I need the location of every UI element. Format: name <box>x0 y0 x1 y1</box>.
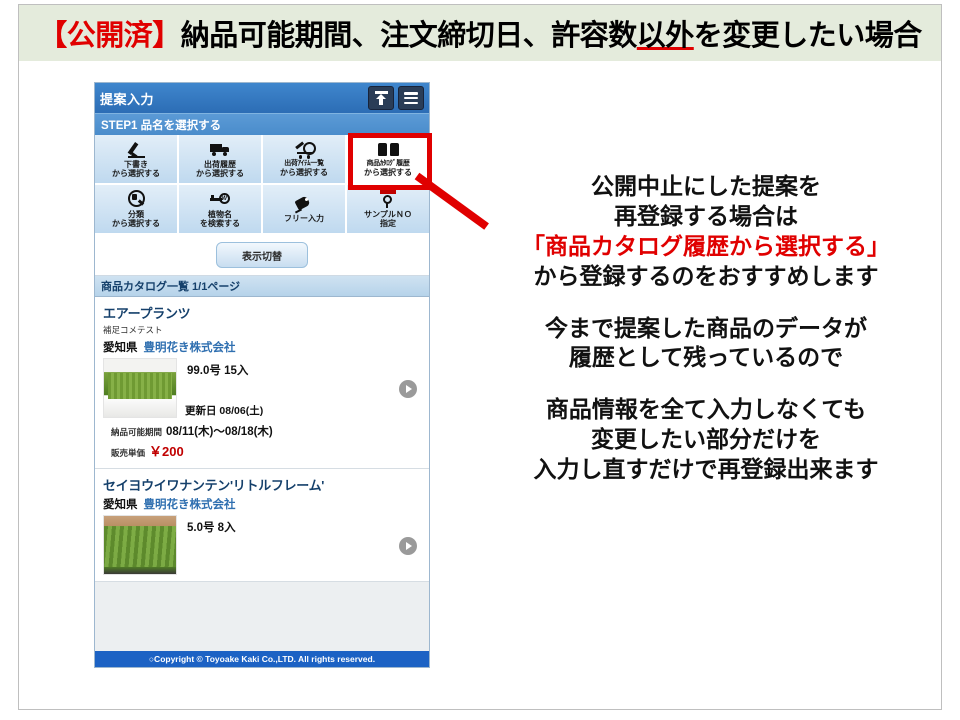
app-title: 提案入力 <box>100 89 364 108</box>
product-subtitle: 補足コメテスト <box>103 324 421 336</box>
tile-free-input[interactable]: フリー入力 <box>263 185 347 235</box>
chevron-right-icon[interactable] <box>399 380 417 398</box>
cart-icon <box>295 140 314 159</box>
slide: 【公開済】納品可能期間、注文締切日、許容数以外を変更したい場合 提案入力 STE… <box>0 0 960 720</box>
delivery-period-value: 08/11(木)〜08/18(木) <box>166 426 273 438</box>
updated-value: 08/06(土) <box>219 405 263 417</box>
list-item[interactable]: エアープランツ 補足コメテスト 愛知県豊明花き株式会社 99.0号 15入 更新… <box>95 297 429 469</box>
product-supplier: 愛知県豊明花き株式会社 <box>103 496 421 512</box>
delivery-period-label: 納品可能期間 <box>111 427 162 437</box>
product-name: エアープランツ <box>103 303 421 322</box>
product-supplier: 愛知県豊明花き株式会社 <box>103 339 421 355</box>
product-spec: 5.0号 8入 <box>187 515 236 577</box>
list-item[interactable]: セイヨウイワナンテン'リトルフレーム' 愛知県豊明花き株式会社 5.0号 8入 <box>95 469 429 582</box>
menu-icon <box>404 92 418 104</box>
tile-label-line1: サンプルＮＯ <box>364 210 412 219</box>
page-title: 【公開済】納品可能期間、注文締切日、許容数以外を変更したい場合 <box>38 12 922 54</box>
callout-line: 履歴として残っているので <box>470 343 942 373</box>
unit-price-row: 販売単価￥200 <box>111 441 413 460</box>
product-thumbnail <box>103 358 177 418</box>
book-icon <box>378 140 399 159</box>
tile-label-line2: から選択する <box>280 168 328 177</box>
menu-button[interactable] <box>398 86 424 110</box>
sample-no-icon <box>378 190 398 209</box>
supplier-prefecture: 愛知県 <box>103 499 138 511</box>
tile-label-line2: から選択する <box>196 169 244 178</box>
tile-label-line2: から選択する <box>364 168 412 177</box>
callout-line-emphasis: 「商品カタログ履歴から選択する」 <box>470 232 942 262</box>
callout-line: 商品情報を全て入力しなくても <box>470 395 942 425</box>
display-toggle-button[interactable]: 表示切替 <box>216 242 308 268</box>
tile-label-line1: 分類 <box>128 210 144 219</box>
tile-plant-name-search[interactable]: W 植物名 を検索する <box>179 185 263 235</box>
product-main: 99.0号 15入 更新日 08/06(土) <box>103 358 421 420</box>
product-main: 5.0号 8入 <box>103 515 421 577</box>
product-thumbnail <box>103 515 177 575</box>
mobile-app-screenshot: 提案入力 STEP1 品名を選択する 下書き から選択する 出荷履歴 から選択す… <box>94 82 430 668</box>
supplier-company: 豊明花き株式会社 <box>144 342 236 354</box>
toggle-row: 表示切替 <box>95 235 429 276</box>
tile-row: 下書き から選択する 出荷履歴 から選択する 出荷ｱｲﾃﾑ一覧 から選択する 商… <box>95 135 429 185</box>
catalog-list-header: 商品カタログ一覧 1/1ページ <box>95 276 429 297</box>
app-header: 提案入力 <box>95 83 429 113</box>
supplier-company: 豊明花き株式会社 <box>144 499 236 511</box>
tile-shipping-history[interactable]: 出荷履歴 から選択する <box>179 135 263 185</box>
tag-icon <box>295 194 313 213</box>
tile-shipping-item-list[interactable]: 出荷ｱｲﾃﾑ一覧 から選択する <box>263 135 347 185</box>
tile-label-line2: から選択する <box>112 219 160 228</box>
scroll-to-top-icon <box>375 91 388 105</box>
step-bar: STEP1 品名を選択する <box>95 113 429 135</box>
tile-label-line2: 指定 <box>380 219 396 228</box>
key-icon: W <box>210 190 230 209</box>
unit-price-label: 販売単価 <box>111 448 145 458</box>
title-emphasis: 以外 <box>637 20 694 52</box>
selection-method-grid: 下書き から選択する 出荷履歴 から選択する 出荷ｱｲﾃﾑ一覧 から選択する 商… <box>95 135 429 235</box>
title-body-before: 納品可能期間、注文締切日、許容数 <box>181 20 637 52</box>
unit-price-value: ￥200 <box>149 444 184 459</box>
tile-label-line2: を検索する <box>200 219 240 228</box>
product-name: セイヨウイワナンテン'リトルフレーム' <box>103 475 421 494</box>
tile-category[interactable]: 分類 から選択する <box>95 185 179 235</box>
callout-line: 変更したい部分だけを <box>470 425 942 455</box>
callout-gap <box>470 292 942 314</box>
tile-label-line1: フリー入力 <box>284 214 324 223</box>
callout-text-block: 公開中止にした提案を 再登録する場合は 「商品カタログ履歴から選択する」 から登… <box>470 172 942 485</box>
callout-line: 入力し直すだけで再登録出来ます <box>470 455 942 485</box>
scroll-to-top-button[interactable] <box>368 86 394 110</box>
title-body-after: を変更したい場合 <box>694 20 922 52</box>
callout-line: 今まで提案した商品のデータが <box>470 314 942 344</box>
tile-label-line1: 出荷履歴 <box>204 160 236 169</box>
updated-label: 更新日 <box>185 405 217 417</box>
category-icon <box>127 190 145 209</box>
product-meta: 納品可能期間08/11(木)〜08/18(木) 販売単価￥200 <box>103 420 421 464</box>
supplier-prefecture: 愛知県 <box>103 342 138 354</box>
pen-icon <box>128 140 145 159</box>
delivery-period-row: 納品可能期間08/11(木)〜08/18(木) <box>111 423 413 439</box>
callout-line: 再登録する場合は <box>470 202 942 232</box>
tile-label-line1: 植物名 <box>208 210 232 219</box>
tile-label-line1: 下書き <box>124 160 148 169</box>
chevron-right-icon[interactable] <box>399 537 417 555</box>
truck-icon <box>210 140 230 159</box>
copyright-footer: ○Copyright © Toyoake Kaki Co.,LTD. All r… <box>95 651 429 667</box>
tile-label-line2: から選択する <box>112 169 160 178</box>
product-list[interactable]: エアープランツ 補足コメテスト 愛知県豊明花き株式会社 99.0号 15入 更新… <box>95 297 429 651</box>
callout-line: 公開中止にした提案を <box>470 172 942 202</box>
tile-sample-no[interactable]: サンプルＮＯ 指定 <box>347 185 429 235</box>
title-status-prefix: 【公開済】 <box>38 20 181 52</box>
callout-line: から登録するのをおすすめします <box>470 262 942 292</box>
callout-gap <box>470 373 942 395</box>
tile-row: 分類 から選択する W 植物名 を検索する フリー入力 サンプルＮＯ 指定 <box>95 185 429 235</box>
title-banner: 【公開済】納品可能期間、注文締切日、許容数以外を変更したい場合 <box>19 5 941 61</box>
product-updated: 更新日 08/06(土) <box>185 403 263 418</box>
tile-draft[interactable]: 下書き から選択する <box>95 135 179 185</box>
